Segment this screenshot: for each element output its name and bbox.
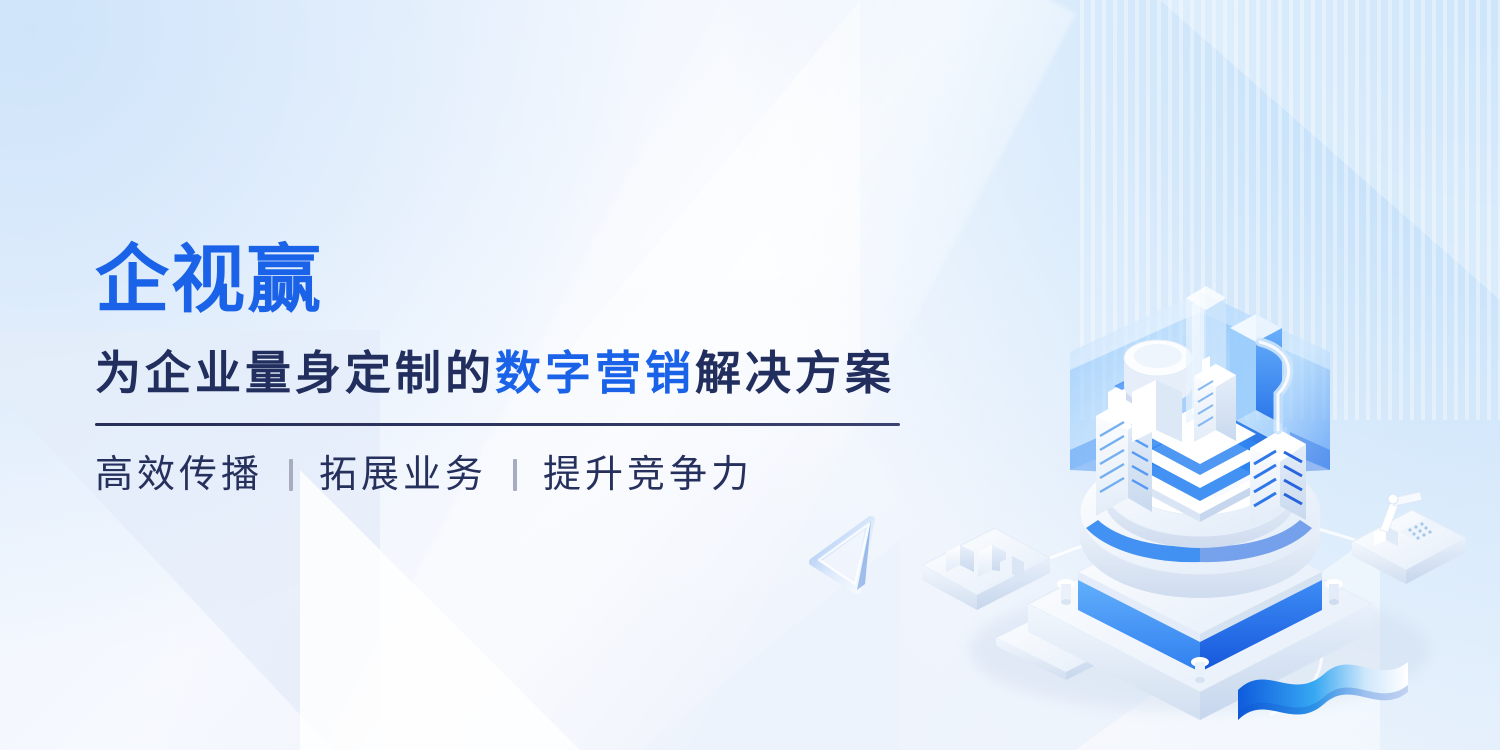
tagline-separator-icon [513,459,517,491]
tagline-item-1: 高效传播 [95,456,263,494]
bg-triangle-center [300,470,600,750]
hero-copy: 企视赢 为企业量身定制的数字营销解决方案 高效传播 拓展业务 提升竞争力 [95,243,925,494]
tagline-item-3: 提升竞争力 [543,456,753,494]
glass-triangle-icon [795,510,885,600]
hero-banner: 企视赢 为企业量身定制的数字营销解决方案 高效传播 拓展业务 提升竞争力 [0,0,1500,750]
tagline-item-2: 拓展业务 [319,456,487,494]
tagline: 高效传播 拓展业务 提升竞争力 [95,456,925,494]
left-building-tile [922,528,1050,610]
right-robot-arm-tile [1352,492,1466,584]
hero-illustration [900,180,1500,750]
brand-title: 企视赢 [95,243,925,317]
headline-highlight: 数字营销 [495,347,695,399]
city-buildings [1096,286,1306,524]
headline-prefix: 为企业量身定制的 [95,347,495,399]
isometric-scene [900,180,1500,750]
divider-rule [95,423,900,426]
headline-suffix: 解决方案 [695,347,895,399]
headline: 为企业量身定制的数字营销解决方案 [95,347,925,399]
tagline-separator-icon [289,459,293,491]
